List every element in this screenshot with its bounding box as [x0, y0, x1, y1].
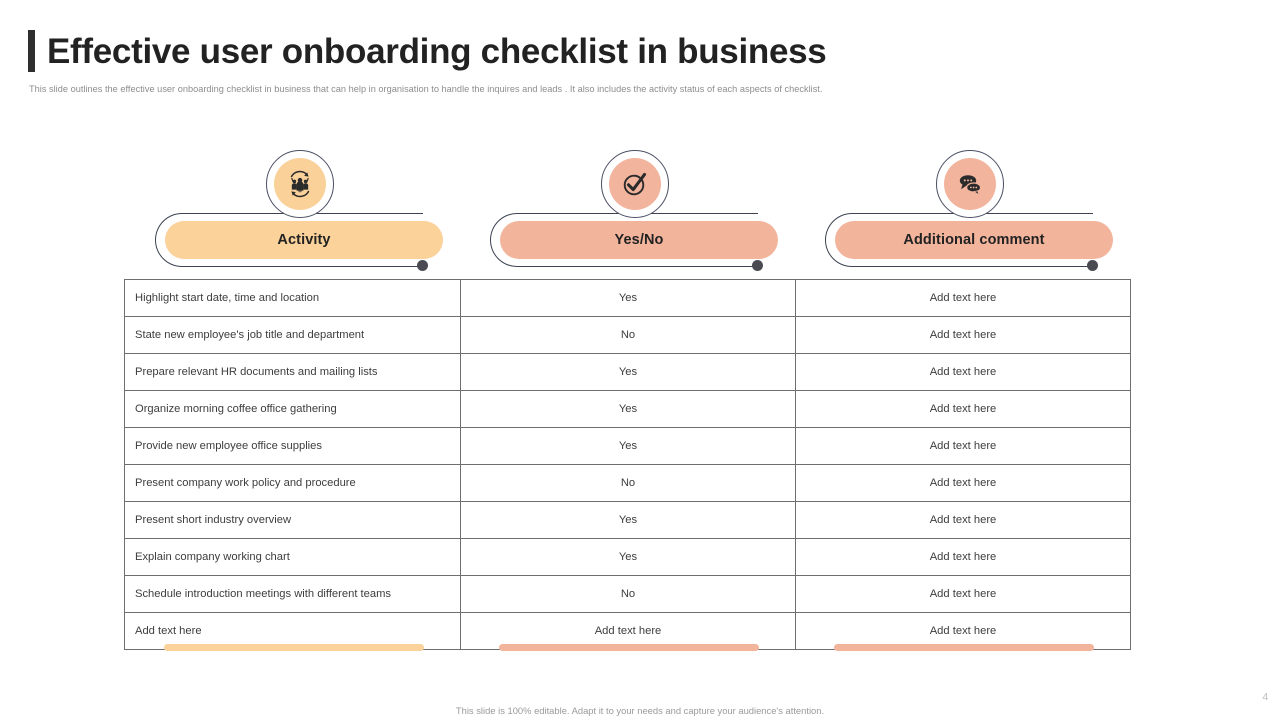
- cell-activity[interactable]: Highlight start date, time and location: [125, 280, 461, 317]
- cell-activity[interactable]: Provide new employee office supplies: [125, 428, 461, 465]
- column-header-activity[interactable]: Activity: [145, 150, 455, 275]
- slide-root: Effective user onboarding checklist in b…: [0, 0, 1280, 720]
- title-text: Effective user onboarding checklist in b…: [47, 34, 826, 69]
- pill-outline-baseline: [853, 266, 1093, 267]
- cell-activity[interactable]: Present short industry overview: [125, 502, 461, 539]
- cell-comment[interactable]: Add text here: [796, 354, 1131, 391]
- check-circle-icon: [618, 167, 652, 201]
- cell-comment[interactable]: Add text here: [796, 317, 1131, 354]
- cell-comment[interactable]: Add text here: [796, 576, 1131, 613]
- accent-bar-additional-comment: [834, 644, 1094, 651]
- pill-outline-tab: [521, 213, 549, 214]
- speech-bubbles-icon: [953, 167, 987, 201]
- cell-yesno[interactable]: Yes: [461, 280, 796, 317]
- pill-end-dot: [417, 260, 428, 271]
- page-number: 4: [1262, 692, 1268, 703]
- cell-yesno[interactable]: No: [461, 465, 796, 502]
- icon-circle-activity: [266, 150, 334, 218]
- cell-yesno[interactable]: Yes: [461, 354, 796, 391]
- footer-note: This slide is 100% editable. Adapt it to…: [0, 705, 1280, 716]
- cell-activity[interactable]: State new employee's job title and depar…: [125, 317, 461, 354]
- title-accent-bar: [28, 30, 35, 72]
- cell-yesno[interactable]: No: [461, 317, 796, 354]
- table-row[interactable]: Organize morning coffee office gathering…: [125, 391, 1131, 428]
- cell-activity[interactable]: Prepare relevant HR documents and mailin…: [125, 354, 461, 391]
- cell-comment[interactable]: Add text here: [796, 428, 1131, 465]
- table-row[interactable]: Explain company working chart Yes Add te…: [125, 539, 1131, 576]
- cell-comment[interactable]: Add text here: [796, 391, 1131, 428]
- icon-circle-additional-comment: [936, 150, 1004, 218]
- table-row[interactable]: Provide new employee office supplies Yes…: [125, 428, 1131, 465]
- pill-end-dot: [1087, 260, 1098, 271]
- accent-bar-yesno: [499, 644, 759, 651]
- cell-comment[interactable]: Add text here: [796, 280, 1131, 317]
- pill-outline-baseline: [183, 266, 423, 267]
- cell-activity[interactable]: Present company work policy and procedur…: [125, 465, 461, 502]
- cell-yesno[interactable]: Yes: [461, 428, 796, 465]
- pill-outline-tab: [186, 213, 214, 214]
- checklist-table: Highlight start date, time and location …: [124, 279, 1130, 650]
- column-header-additional-comment[interactable]: Additional comment: [815, 150, 1125, 275]
- column-header-yesno[interactable]: Yes/No: [480, 150, 790, 275]
- pill-yesno[interactable]: Yes/No: [500, 221, 778, 259]
- cell-comment[interactable]: Add text here: [796, 539, 1131, 576]
- cell-activity[interactable]: Organize morning coffee office gathering: [125, 391, 461, 428]
- cell-comment[interactable]: Add text here: [796, 502, 1131, 539]
- page-title: Effective user onboarding checklist in b…: [28, 30, 826, 72]
- pill-outline-baseline: [518, 266, 758, 267]
- cell-activity[interactable]: Schedule introduction meetings with diff…: [125, 576, 461, 613]
- column-headers: Activity: [124, 150, 1130, 275]
- pill-label-activity: Activity: [277, 232, 330, 248]
- pill-additional-comment[interactable]: Additional comment: [835, 221, 1113, 259]
- cell-yesno[interactable]: Yes: [461, 391, 796, 428]
- pill-label-yesno: Yes/No: [615, 232, 664, 248]
- table-row[interactable]: Prepare relevant HR documents and mailin…: [125, 354, 1131, 391]
- cell-yesno[interactable]: No: [461, 576, 796, 613]
- cell-yesno[interactable]: Yes: [461, 539, 796, 576]
- subtitle-text: This slide outlines the effective user o…: [29, 84, 822, 94]
- pill-end-dot: [752, 260, 763, 271]
- table-row[interactable]: Highlight start date, time and location …: [125, 280, 1131, 317]
- table-body: Highlight start date, time and location …: [125, 280, 1131, 650]
- pill-label-additional-comment: Additional comment: [903, 232, 1044, 248]
- table-row[interactable]: Present short industry overview Yes Add …: [125, 502, 1131, 539]
- cell-activity[interactable]: Explain company working chart: [125, 539, 461, 576]
- pill-activity[interactable]: Activity: [165, 221, 443, 259]
- table-row[interactable]: Schedule introduction meetings with diff…: [125, 576, 1131, 613]
- table-row[interactable]: State new employee's job title and depar…: [125, 317, 1131, 354]
- team-group-icon: [283, 167, 317, 201]
- accent-bar-activity: [164, 644, 424, 651]
- cell-comment[interactable]: Add text here: [796, 465, 1131, 502]
- icon-circle-yesno: [601, 150, 669, 218]
- bottom-accent-bars: [124, 644, 1130, 652]
- pill-outline-tab: [856, 213, 884, 214]
- table-row[interactable]: Present company work policy and procedur…: [125, 465, 1131, 502]
- cell-yesno[interactable]: Yes: [461, 502, 796, 539]
